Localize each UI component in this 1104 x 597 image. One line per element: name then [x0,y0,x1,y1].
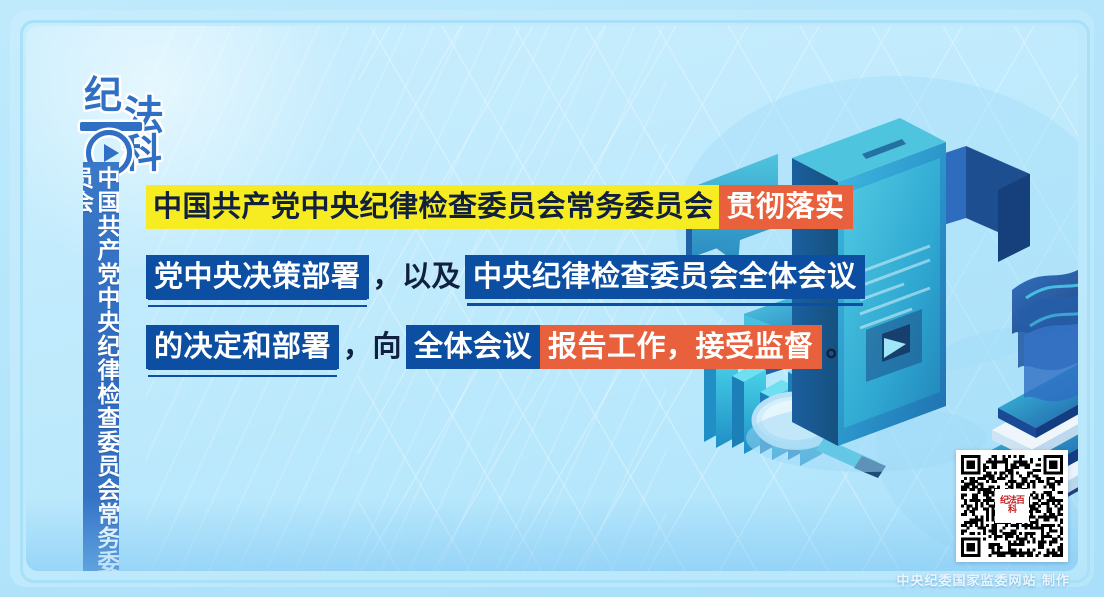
qr-center-logo: 纪法百科 [995,489,1029,523]
headline-seg-plain-1: ，以及 [369,255,466,299]
headline-line-2: 党中央决策部署 ，以及 中央纪律检查委员会全体会议 [146,242,866,312]
magnifier-icon [754,394,886,478]
qr-center-logo-label: 纪法百科 [997,497,1027,515]
headline-seg-blue-3: 的决定和部署 [146,325,339,369]
logo-char-ji: 纪 [84,76,122,114]
headline-line-1: 中国共产党中央纪律检查委员会常务委员会 贯彻落实 [146,172,866,242]
poster-canvas: 纪 法 科 中国共产党中央纪律检查委员会常务委员会 中国共产党中央纪律检查委员会… [0,0,1104,597]
headline-seg-orange-1: 贯彻落实 [719,185,853,229]
vertical-title-banner: 中国共产党中央纪律检查委员会常务委员会 [83,162,119,571]
poster-inner: 纪 法 科 中国共产党中央纪律检查委员会常务委员会 中国共产党中央纪律检查委员会… [26,26,1078,571]
headline-seg-blue-1: 党中央决策部署 [146,255,369,299]
play-triangle-icon [104,144,119,162]
headline-seg-orange-2: 报告工作，接受监督 [540,325,822,369]
headline-seg-period: 。 [822,325,860,369]
headline-line-3: 的决定和部署 ，向 全体会议 报告工作，接受监督 。 [146,312,866,382]
headline-seg-plain-2: ，向 [339,325,406,369]
wave-lines-icon [1012,256,1078,401]
credit-text: 中央纪委国家监委网站 制作 [896,570,1070,589]
headline-seg-blue-4: 全体会议 [406,325,540,369]
floor-gradient [26,497,1078,571]
headline-seg-yellow-1: 中国共产党中央纪律检查委员会常务委员会 [146,185,719,229]
qr-code[interactable]: 纪法百科 [956,450,1068,562]
headline-seg-blue-2: 中央纪律检查委员会全体会议 [465,255,865,299]
headline-block: 中国共产党中央纪律检查委员会常务委员会 贯彻落实 党中央决策部署 ，以及 中央纪… [146,172,866,382]
